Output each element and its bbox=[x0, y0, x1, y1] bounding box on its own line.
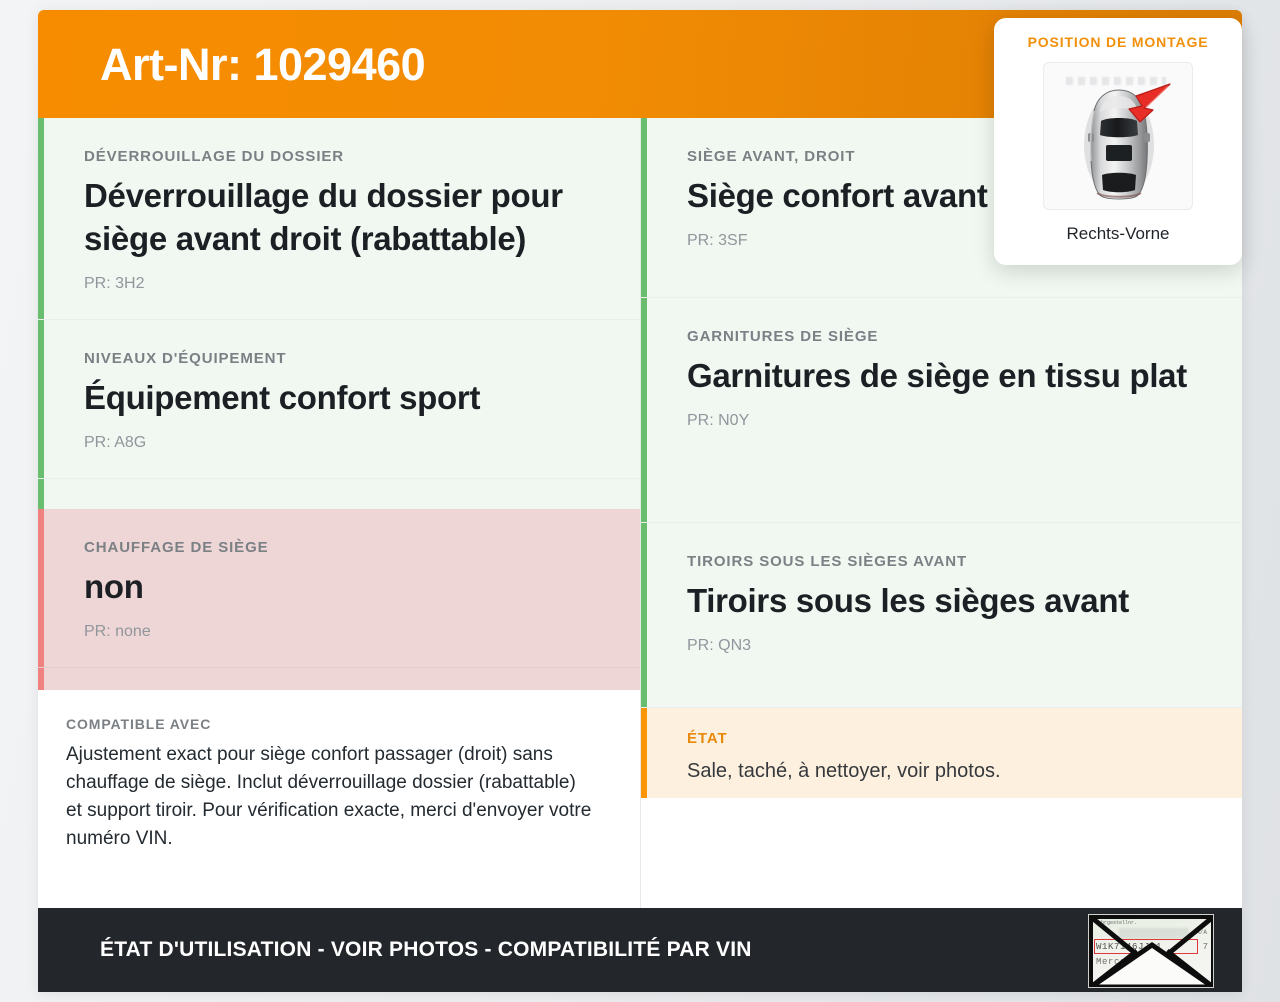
page-title: Art-Nr: 1029460 bbox=[100, 42, 425, 87]
mounting-position-caption: Rechts-Vorne bbox=[1008, 224, 1228, 244]
page-root: Art-Nr: 1029460 DÉVERROUILLAGE DU DOSSIE… bbox=[0, 0, 1280, 1002]
spec-value: Déverrouillage du dossier pour siège ava… bbox=[84, 175, 594, 261]
footer-text: ÉTAT D'UTILISATION - VOIR PHOTOS - COMPA… bbox=[100, 938, 752, 962]
left-column-filler-green bbox=[38, 479, 640, 509]
compatibility-label: COMPATIBLE AVEC bbox=[66, 716, 594, 732]
footer-bar: ÉTAT D'UTILISATION - VOIR PHOTOS - COMPA… bbox=[38, 908, 1242, 992]
envelope-icon bbox=[1089, 915, 1214, 988]
mounting-position-title: POSITION DE MONTAGE bbox=[1008, 34, 1228, 50]
spec-value: Garnitures de siège en tissu plat bbox=[687, 355, 1196, 398]
spec-row-equipment-level[interactable]: NIVEAUX D'ÉQUIPEMENT Équipement confort … bbox=[38, 320, 640, 479]
spec-row-under-seat-drawers[interactable]: TIROIRS SOUS LES SIÈGES AVANT Tiroirs so… bbox=[641, 523, 1242, 708]
car-top-view-with-arrow-icon bbox=[1043, 62, 1193, 210]
spec-pr-code: PR: QN3 bbox=[687, 637, 1196, 655]
spec-value: non bbox=[84, 566, 594, 609]
spec-row-seat-heating[interactable]: CHAUFFAGE DE SIÈGE non PR: none bbox=[38, 509, 640, 668]
compatibility-block: COMPATIBLE AVEC Ajustement exact pour si… bbox=[38, 690, 640, 875]
condition-block: ÉTAT Sale, taché, à nettoyer, voir photo… bbox=[641, 708, 1242, 798]
spec-label: NIVEAUX D'ÉQUIPEMENT bbox=[84, 350, 594, 367]
mounting-position-card[interactable]: POSITION DE MONTAGE bbox=[994, 18, 1242, 265]
spec-value: Équipement confort sport bbox=[84, 377, 594, 420]
left-column: DÉVERROUILLAGE DU DOSSIER Déverrouillage… bbox=[38, 118, 640, 918]
spec-label: GARNITURES DE SIÈGE bbox=[687, 328, 1196, 345]
condition-text: Sale, taché, à nettoyer, voir photos. bbox=[687, 757, 1196, 785]
spec-value: Tiroirs sous les sièges avant bbox=[687, 580, 1196, 623]
spec-label: CHAUFFAGE DE SIÈGE bbox=[84, 539, 594, 556]
spec-pr-code: PR: A8G bbox=[84, 434, 594, 452]
spec-pr-code: PR: 3H2 bbox=[84, 275, 594, 293]
spec-pr-code: PR: none bbox=[84, 623, 594, 641]
spec-pr-code: PR: N0Y bbox=[687, 412, 1196, 430]
compatibility-text: Ajustement exact pour siège confort pass… bbox=[66, 741, 594, 853]
right-column-filler-white bbox=[641, 798, 1242, 918]
red-arrow-icon bbox=[1126, 81, 1172, 125]
spec-label: TIROIRS SOUS LES SIÈGES AVANT bbox=[687, 553, 1196, 570]
left-column-filler-red bbox=[38, 668, 640, 690]
spec-label: DÉVERROUILLAGE DU DOSSIER bbox=[84, 148, 594, 165]
vin-envelope-badge[interactable]: Fahrgestellnr. A/A W1K7146JJ31 7 Mercede… bbox=[1088, 914, 1214, 988]
spec-row-backrest-unlock[interactable]: DÉVERROUILLAGE DU DOSSIER Déverrouillage… bbox=[38, 118, 640, 320]
condition-label: ÉTAT bbox=[687, 730, 1196, 747]
spec-row-seat-upholstery[interactable]: GARNITURES DE SIÈGE Garnitures de siège … bbox=[641, 298, 1242, 523]
